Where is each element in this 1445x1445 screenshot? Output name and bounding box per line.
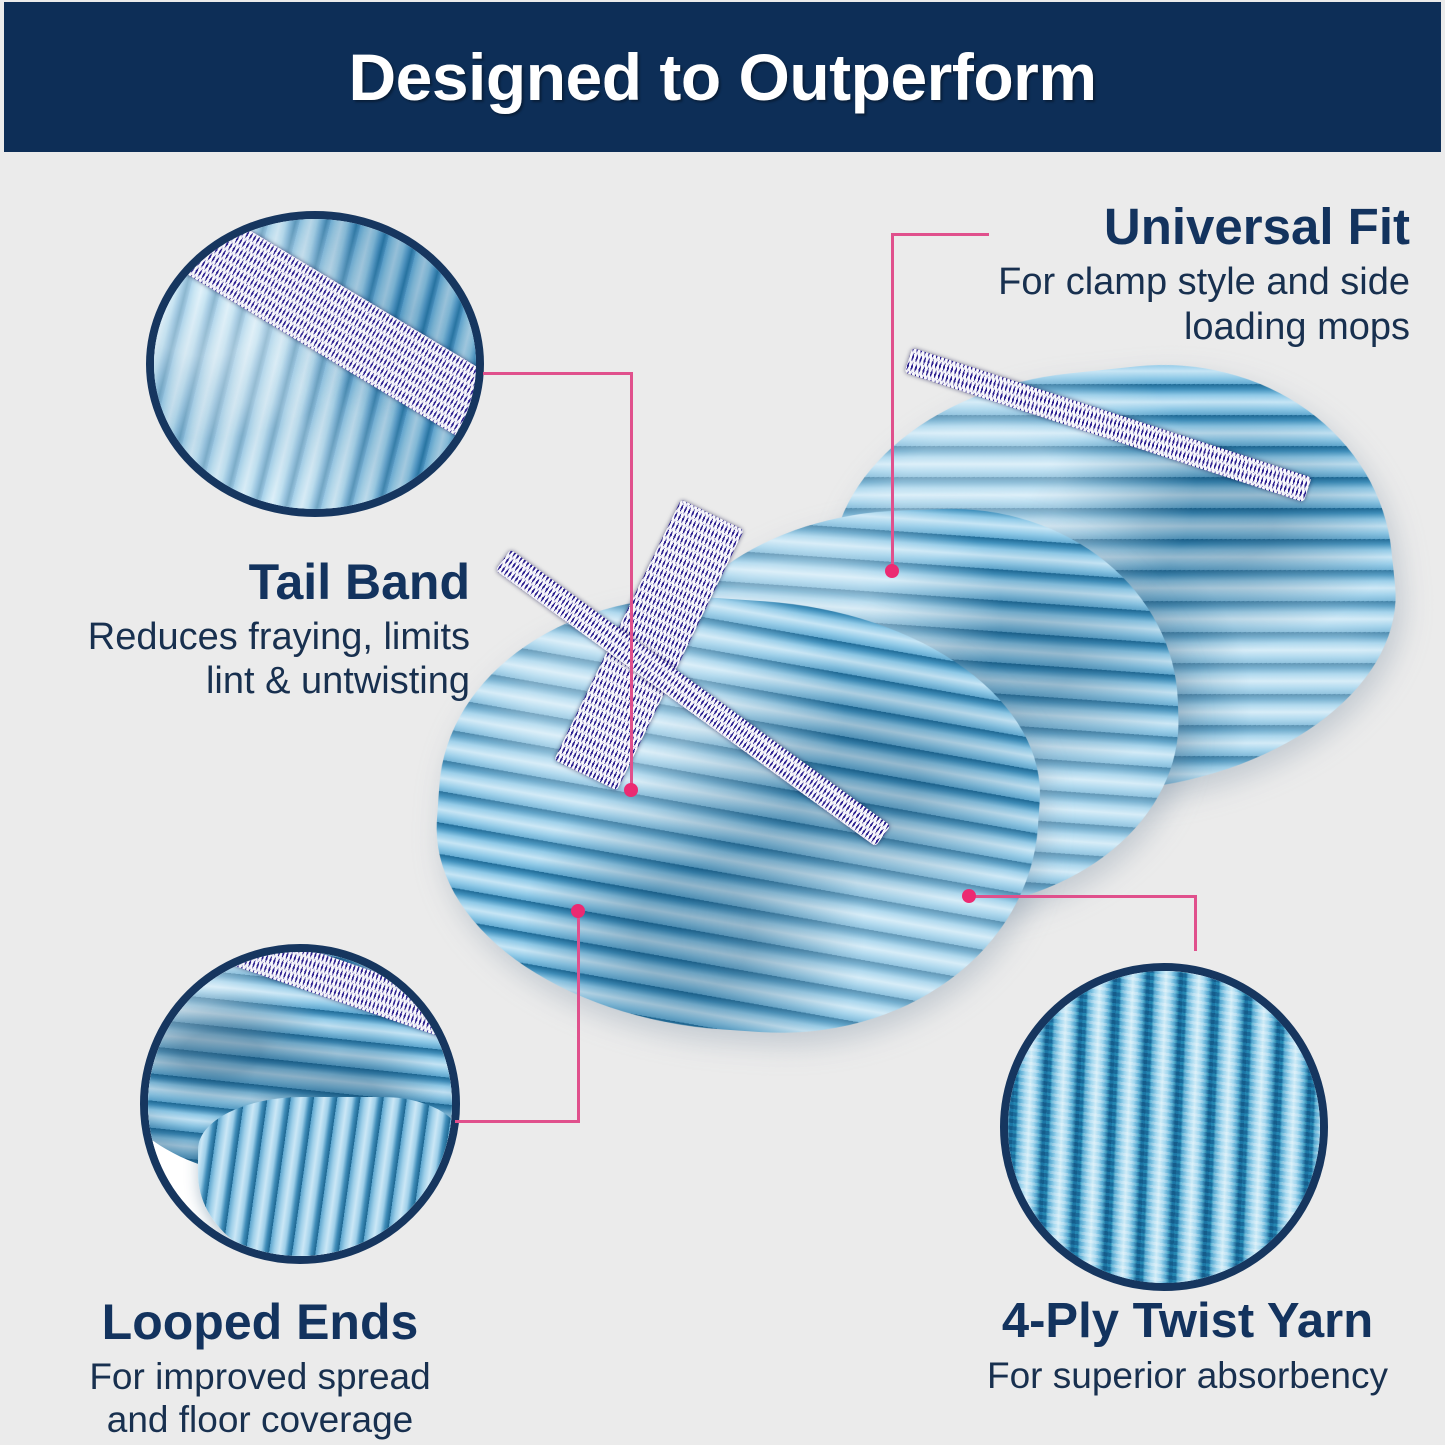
callout-image-tail-band xyxy=(146,211,484,517)
callout-image-four-ply-yarn xyxy=(1000,963,1328,1291)
callout-image-looped-ends xyxy=(140,944,460,1264)
callout-body-line: For improved spread xyxy=(10,1355,510,1398)
callout-body-universal-fit: For clamp style and side loading mops xyxy=(930,260,1410,349)
connector-line-looped-ends-horizontal xyxy=(455,1120,580,1123)
connector-line-four-ply-vertical xyxy=(1194,895,1197,951)
callout-body-line: For clamp style and side xyxy=(930,260,1410,304)
callout-title-four-ply-twist-yarn: 4-Ply Twist Yarn xyxy=(940,1296,1435,1348)
four-ply-yarn-photo xyxy=(1000,963,1328,1291)
callout-looped-ends: Looped Ends For improved spread and floo… xyxy=(10,1296,510,1442)
connector-line-tail-band-vertical xyxy=(630,372,633,790)
callout-title-tail-band: Tail Band xyxy=(30,556,470,609)
callout-four-ply-twist-yarn: 4-Ply Twist Yarn For superior absorbency xyxy=(940,1296,1435,1397)
connector-dot-looped-ends xyxy=(571,904,585,918)
connector-dot-tail-band xyxy=(624,783,638,797)
callout-universal-fit: Universal Fit For clamp style and side l… xyxy=(930,200,1410,349)
page-title: Designed to Outperform xyxy=(348,44,1096,110)
connector-line-four-ply-horizontal xyxy=(969,895,1197,898)
callout-title-looped-ends: Looped Ends xyxy=(10,1296,510,1349)
callout-body-line: and floor coverage xyxy=(10,1398,510,1441)
callout-body-line: For superior absorbency xyxy=(940,1354,1435,1397)
callout-tail-band: Tail Band Reduces fraying, limits lint &… xyxy=(30,556,470,704)
connector-line-tail-band-horizontal xyxy=(483,372,633,375)
connector-line-looped-ends-vertical xyxy=(577,911,580,1123)
connector-dot-universal-fit xyxy=(885,564,899,578)
header-banner: Designed to Outperform xyxy=(4,2,1441,152)
infographic-canvas: Designed to Outperform xyxy=(0,0,1445,1445)
callout-body-four-ply-twist-yarn: For superior absorbency xyxy=(940,1354,1435,1397)
yarn-loop-strands xyxy=(198,1097,460,1264)
tail-band-photo xyxy=(146,211,484,517)
callout-body-line: lint & untwisting xyxy=(30,659,470,703)
connector-dot-four-ply xyxy=(962,889,976,903)
looped-ends-photo xyxy=(140,944,460,1264)
twisted-yarn-texture xyxy=(1000,963,1328,1291)
callout-title-universal-fit: Universal Fit xyxy=(930,200,1410,254)
callout-body-tail-band: Reduces fraying, limits lint & untwistin… xyxy=(30,615,470,704)
callout-body-looped-ends: For improved spread and floor coverage xyxy=(10,1355,510,1442)
connector-line-universal-fit-vertical xyxy=(891,233,894,573)
callout-body-line: Reduces fraying, limits xyxy=(30,615,470,659)
callout-body-line: loading mops xyxy=(930,305,1410,349)
